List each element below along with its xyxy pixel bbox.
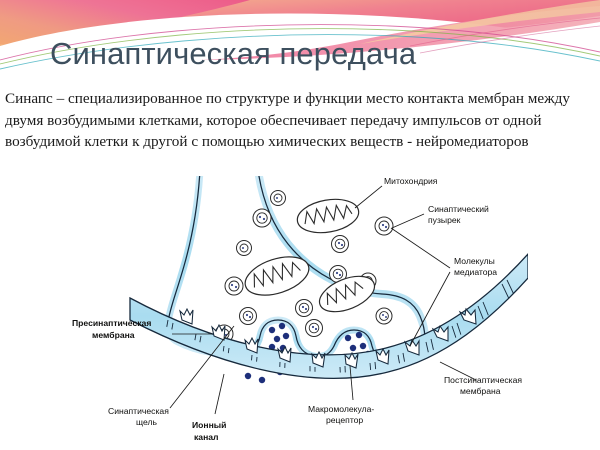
svg-text:Пресинаптическая: Пресинаптическая <box>72 318 151 328</box>
body-paragraph: Синапс – специализированное по структуре… <box>5 88 593 153</box>
svg-text:канал: канал <box>194 432 219 442</box>
diagram-label-mediator-molecules: Молекулы медиатора <box>454 256 497 277</box>
diagram-label-synaptic-cleft: Синаптическая щель <box>108 406 169 427</box>
diagram-label-presynaptic-membrane: Пресинаптическая мембрана <box>72 318 151 340</box>
diagram-graphics: Митохондрия Синаптический пузырек Молеку… <box>72 176 528 442</box>
svg-text:рецептор: рецептор <box>326 415 363 425</box>
svg-text:Митохондрия: Митохондрия <box>384 176 438 186</box>
svg-text:мембрана: мембрана <box>92 330 135 340</box>
synapse-diagram: Митохондрия Синаптический пузырек Молеку… <box>72 176 528 450</box>
svg-text:Макромолекула-: Макромолекула- <box>308 404 374 414</box>
page-title: Синаптическая передача <box>50 37 590 71</box>
diagram-label-synaptic-vesicle: Синаптический пузырек <box>428 204 489 225</box>
diagram-label-postsynaptic-membrane: Постсинаптическая мембрана <box>444 375 522 396</box>
svg-text:Молекулы: Молекулы <box>454 256 495 266</box>
svg-text:медиатора: медиатора <box>454 267 497 277</box>
diagram-label-ion-channel: Ионный канал <box>192 420 226 442</box>
svg-text:Синаптическая: Синаптическая <box>108 406 169 416</box>
svg-text:мембрана: мембрана <box>460 386 501 396</box>
svg-text:Ионный: Ионный <box>192 420 226 430</box>
diagram-label-mitochondria: Митохондрия <box>384 176 438 186</box>
slide-root: Синаптическая передача Синапс – специали… <box>0 0 600 450</box>
svg-text:щель: щель <box>136 417 157 427</box>
svg-text:пузырек: пузырек <box>428 215 461 225</box>
diagram-label-receptor-macromolecule: Макромолекула- рецептор <box>308 404 374 425</box>
svg-text:Постсинаптическая: Постсинаптическая <box>444 375 522 385</box>
svg-text:Синаптический: Синаптический <box>428 204 489 214</box>
